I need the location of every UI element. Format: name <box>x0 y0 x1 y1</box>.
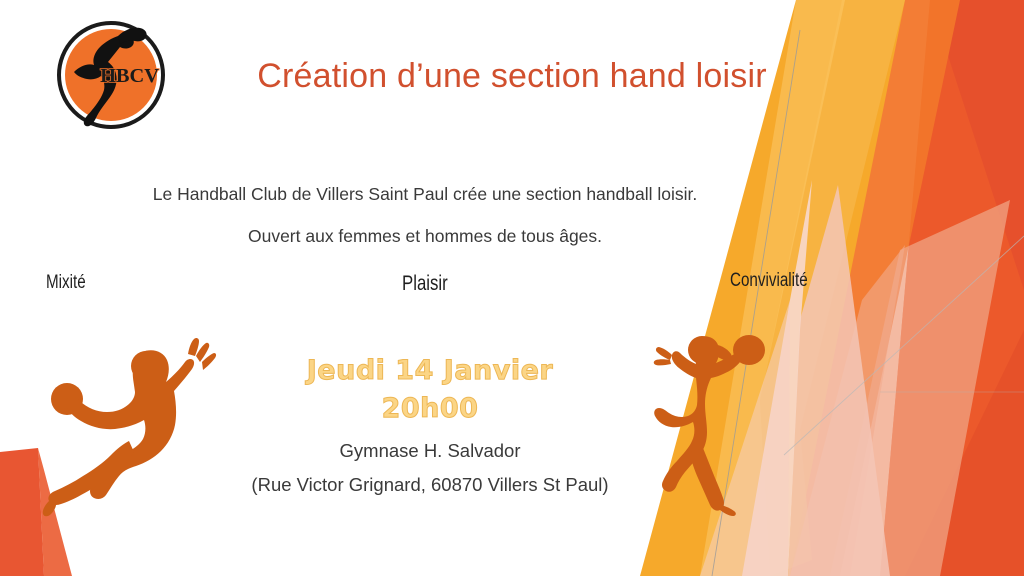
decor-shape-salmon-2 <box>790 245 905 576</box>
female-handball-player-silhouette <box>645 330 795 520</box>
decor-shape-salmon <box>830 200 1010 576</box>
decor-hairline-2 <box>784 236 1024 455</box>
keyword-plaisir: Plaisir <box>402 273 448 295</box>
decor-shape-right-deep-3 <box>905 330 1024 576</box>
player-leg-right <box>690 448 724 511</box>
keyword-convivialite: Convivialité <box>730 270 808 292</box>
event-time: 20h00 <box>228 390 632 428</box>
event-details: Jeudi 14 Janvier 20h00 Gymnase H. Salvad… <box>228 352 632 502</box>
event-venue: Gymnase H. Salvador <box>228 434 632 468</box>
player-foot-left <box>43 501 56 516</box>
player-foot-right <box>720 505 736 516</box>
event-address: (Rue Victor Grignard, 60870 Villers St P… <box>228 468 632 502</box>
page-title: Création d’une section hand loisir <box>0 54 1024 98</box>
event-date: Jeudi 14 Janvier <box>228 352 632 390</box>
presentation-slide: HBCV Création d’une section hand loisir … <box>0 0 1024 576</box>
male-handball-player-silhouette <box>30 332 230 520</box>
intro-line-1: Le Handball Club de Villers Saint Paul c… <box>40 182 810 207</box>
player-hand-right <box>654 347 672 365</box>
keyword-mixite: Mixité <box>46 272 86 294</box>
intro-paragraph: Le Handball Club de Villers Saint Paul c… <box>40 182 810 249</box>
intro-line-2: Ouvert aux femmes et hommes de tous âges… <box>40 224 810 249</box>
